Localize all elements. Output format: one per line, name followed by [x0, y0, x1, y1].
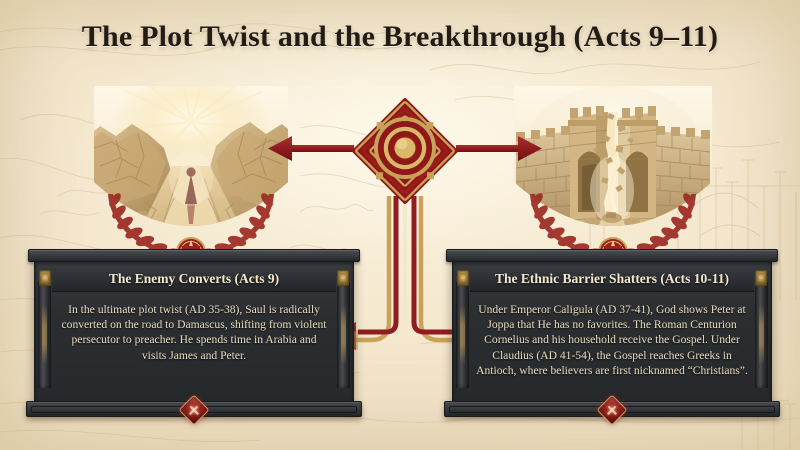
- panel-cornice: [28, 249, 360, 262]
- panel-heading: The Enemy Converts (Acts 9): [109, 271, 279, 287]
- panel-header-left: The Enemy Converts (Acts 9): [52, 265, 336, 292]
- rosette-icon: [755, 270, 767, 286]
- infographic-canvas: The Plot Twist and the Breakthrough (Act…: [0, 0, 800, 450]
- panel-pilaster-right: [755, 282, 768, 388]
- page-title: The Plot Twist and the Breakthrough (Act…: [0, 20, 800, 54]
- panel-body-left: In the ultimate plot twist (AD 35-38), S…: [58, 298, 330, 390]
- road-to-damascus-illustration: [86, 82, 296, 257]
- panel-body-text: In the ultimate plot twist (AD 35-38), S…: [58, 302, 330, 363]
- panel-body-right: Under Emperor Caligula (AD 37-41), God s…: [476, 298, 748, 390]
- rosette-icon: [39, 270, 51, 286]
- panel-body-text: Under Emperor Caligula (AD 37-41), God s…: [476, 302, 748, 378]
- panel-header-right: The Ethnic Barrier Shatters (Acts 10-11): [470, 265, 754, 292]
- shattered-wall-illustration: [508, 82, 718, 257]
- rosette-icon: [457, 270, 469, 286]
- panel-pilaster-right: [337, 282, 350, 388]
- panel-pilaster-left: [38, 282, 51, 388]
- panel-cornice: [446, 249, 778, 262]
- diamond-medallion[interactable]: [350, 96, 460, 206]
- panel-pilaster-left: [456, 282, 469, 388]
- rosette-icon: [337, 270, 349, 286]
- panel-heading: The Ethnic Barrier Shatters (Acts 10-11): [495, 271, 729, 287]
- panel-enemy-converts[interactable]: The Enemy Converts (Acts 9) In the ultim…: [34, 256, 354, 408]
- panel-ethnic-barrier-shatters[interactable]: The Ethnic Barrier Shatters (Acts 10-11)…: [452, 256, 772, 408]
